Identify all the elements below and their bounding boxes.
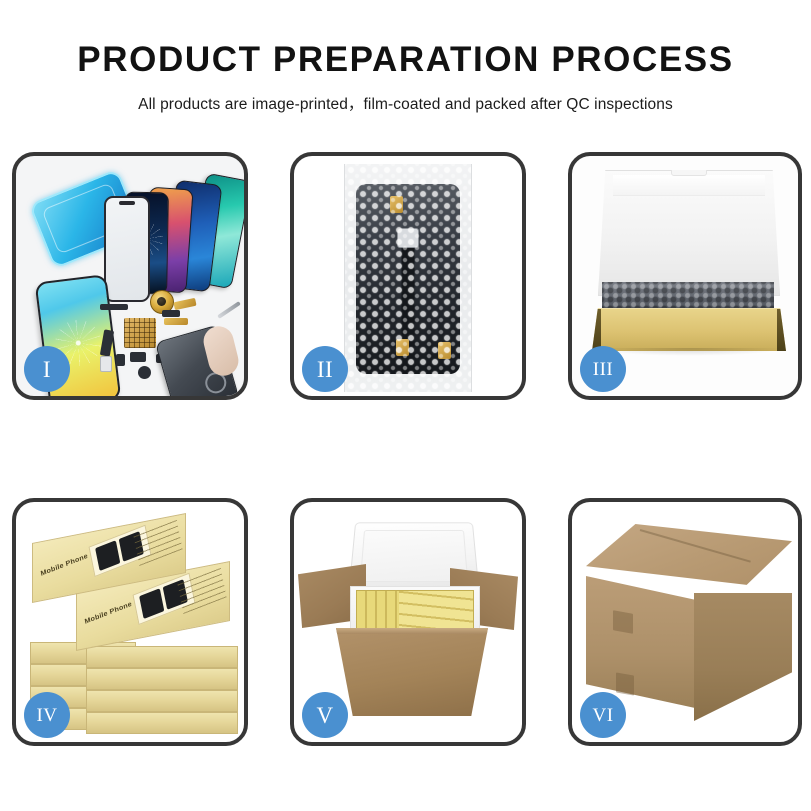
step-numeral-2: II	[317, 358, 333, 381]
gray-foam-icon	[602, 282, 774, 312]
sim-tray-icon	[100, 356, 112, 372]
chip-grid-icon	[124, 318, 156, 348]
bubble-wrap-bag	[344, 164, 472, 392]
step-badge-1: I	[24, 346, 70, 392]
white-box-lid-icon	[598, 170, 780, 296]
gold-tab-icon	[438, 342, 451, 359]
wrapped-screen-icon	[356, 184, 460, 374]
step-badge-4: IV	[24, 692, 70, 738]
stacked-box-layer	[86, 646, 238, 668]
spare-parts-group	[112, 296, 230, 392]
stacked-box-layer	[86, 690, 238, 712]
phone-fan-group	[100, 172, 240, 312]
process-step-card-5: V	[290, 498, 526, 746]
step-numeral-5: V	[316, 704, 333, 727]
process-step-card-2: II	[290, 152, 526, 400]
page-subtitle: All products are image-printed，film-coat…	[0, 92, 811, 114]
vibrator-icon	[138, 366, 151, 379]
button-part-icon	[130, 352, 146, 362]
carton-tape-icon	[613, 610, 633, 634]
page-title: PRODUCT PREPARATION PROCESS	[0, 42, 811, 79]
small-part-icon	[116, 354, 125, 366]
process-step-card-4: Mobile Phone Spare Parts Mobile Phone Sp…	[12, 498, 248, 746]
step-badge-2: II	[302, 346, 348, 392]
page-header: PRODUCT PREPARATION PROCESS All products…	[0, 0, 811, 114]
phone-glass-panel-icon	[104, 196, 150, 302]
step-numeral-1: I	[43, 358, 51, 381]
product-preparation-page: PRODUCT PREPARATION PROCESS All products…	[0, 0, 811, 811]
gold-connector-icon	[164, 318, 188, 325]
gold-flex-part-icon	[173, 298, 196, 310]
antenna-part-icon	[162, 310, 180, 317]
box-shadow	[596, 348, 784, 356]
step-numeral-6: VI	[592, 706, 613, 725]
carton-tape-icon	[616, 672, 634, 695]
kraft-box-base-icon	[592, 308, 786, 351]
phone-notch-icon	[119, 201, 135, 205]
process-step-card-1: I	[12, 152, 248, 400]
stacked-box-layer	[86, 668, 238, 690]
sealed-box	[586, 524, 792, 720]
shipping-carton-icon	[336, 628, 488, 716]
process-step-card-6: VI	[568, 498, 802, 746]
stacked-box-layer	[86, 712, 238, 734]
connector-icon	[397, 228, 419, 248]
gold-tab-icon	[396, 339, 409, 356]
carton-right-face	[694, 593, 792, 721]
carton-left-face	[586, 576, 695, 708]
speaker-part-icon	[100, 304, 128, 310]
gold-tab-icon	[390, 196, 403, 213]
step-badge-5: V	[302, 692, 348, 738]
step-numeral-3: III	[593, 360, 613, 379]
step-numeral-4: IV	[36, 706, 57, 725]
process-steps-grid: I II	[12, 152, 800, 746]
step-badge-6: VI	[580, 692, 626, 738]
step-badge-3: III	[580, 346, 626, 392]
process-step-card-3: III	[568, 152, 802, 400]
